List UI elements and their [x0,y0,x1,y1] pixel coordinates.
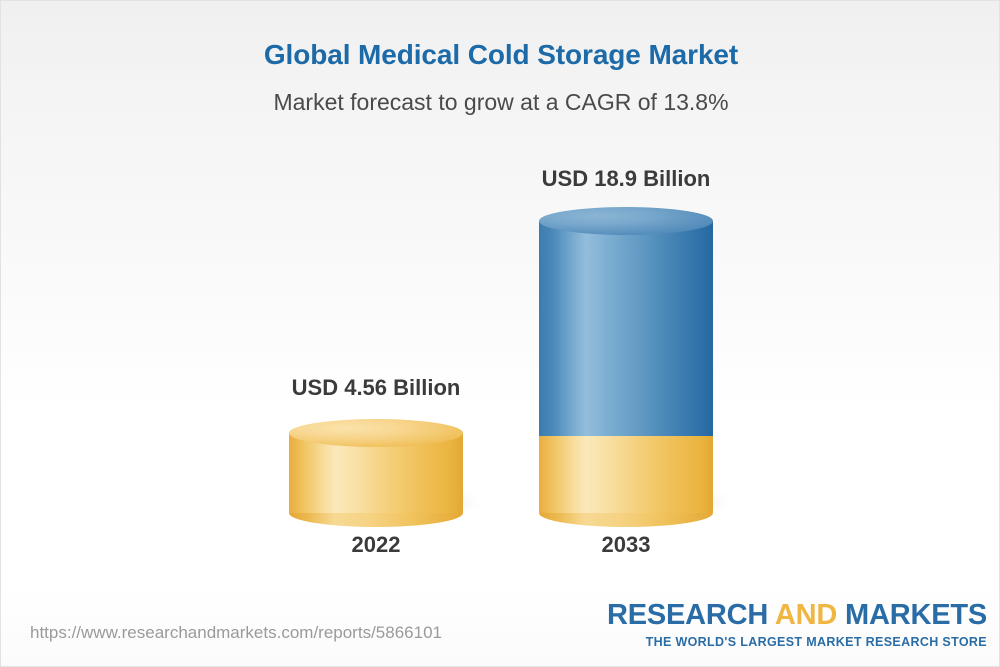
bar-top-cap-2022 [289,419,463,447]
logo-word-markets: MARKETS [837,599,987,631]
value-label-2022: USD 4.56 Billion [236,375,516,401]
research-and-markets-logo[interactable]: RESEARCH AND MARKETS THE WORLD'S LARGEST… [607,601,987,649]
logo-tagline: THE WORLD'S LARGEST MARKET RESEARCH STOR… [607,636,987,649]
category-label-2033: 2033 [486,532,766,558]
bar-cylinder-2022[interactable] [289,419,463,513]
value-label-2033: USD 18.9 Billion [486,166,766,192]
page-subtitle: Market forecast to grow at a CAGR of 13.… [1,89,1000,116]
bar-body-gold-2033 [539,436,713,513]
bar-cylinder-2033[interactable] [539,207,713,513]
bar-body-blue-2033 [539,221,713,436]
report-url[interactable]: https://www.researchandmarkets.com/repor… [30,623,442,643]
category-label-2022: 2022 [236,532,516,558]
bar-top-cap-2033 [539,207,713,235]
infographic-canvas: Global Medical Cold Storage Market Marke… [0,0,1000,667]
logo-word-research: RESEARCH [607,599,775,631]
logo-word-and: AND [775,599,837,631]
page-title: Global Medical Cold Storage Market [1,39,1000,71]
logo-wordmark: RESEARCH AND MARKETS [607,601,987,630]
